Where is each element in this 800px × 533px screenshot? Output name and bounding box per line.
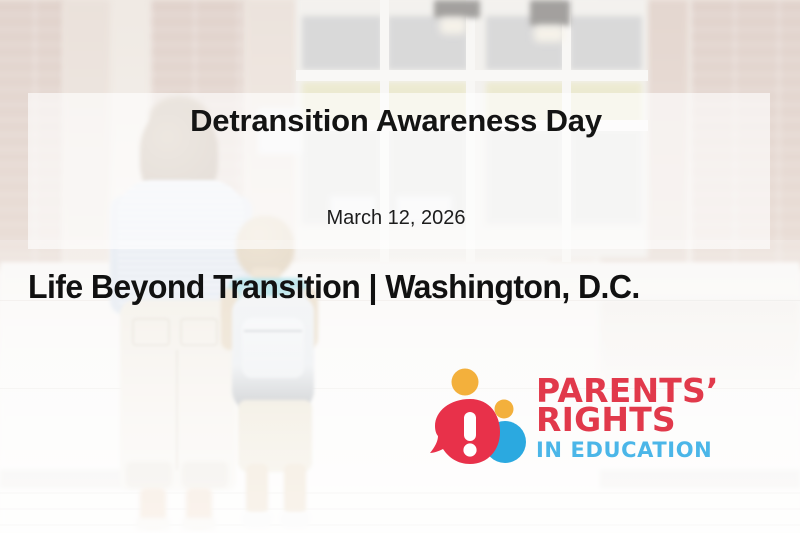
parents-rights-mark-icon <box>428 368 532 474</box>
event-subtitle: Life Beyond Transition | Washington, D.C… <box>28 268 757 306</box>
event-banner: Detransition Awareness Day March 12, 202… <box>0 0 800 533</box>
page-title: Detransition Awareness Day <box>0 103 800 139</box>
logo-line-in-education: IN EDUCATION <box>536 441 718 459</box>
parents-rights-logo[interactable]: PARENTS’ RIGHTS IN EDUCATION <box>428 368 718 500</box>
logo-wordmark: PARENTS’ RIGHTS IN EDUCATION <box>536 376 718 460</box>
event-date: March 12, 2026 <box>0 207 800 230</box>
